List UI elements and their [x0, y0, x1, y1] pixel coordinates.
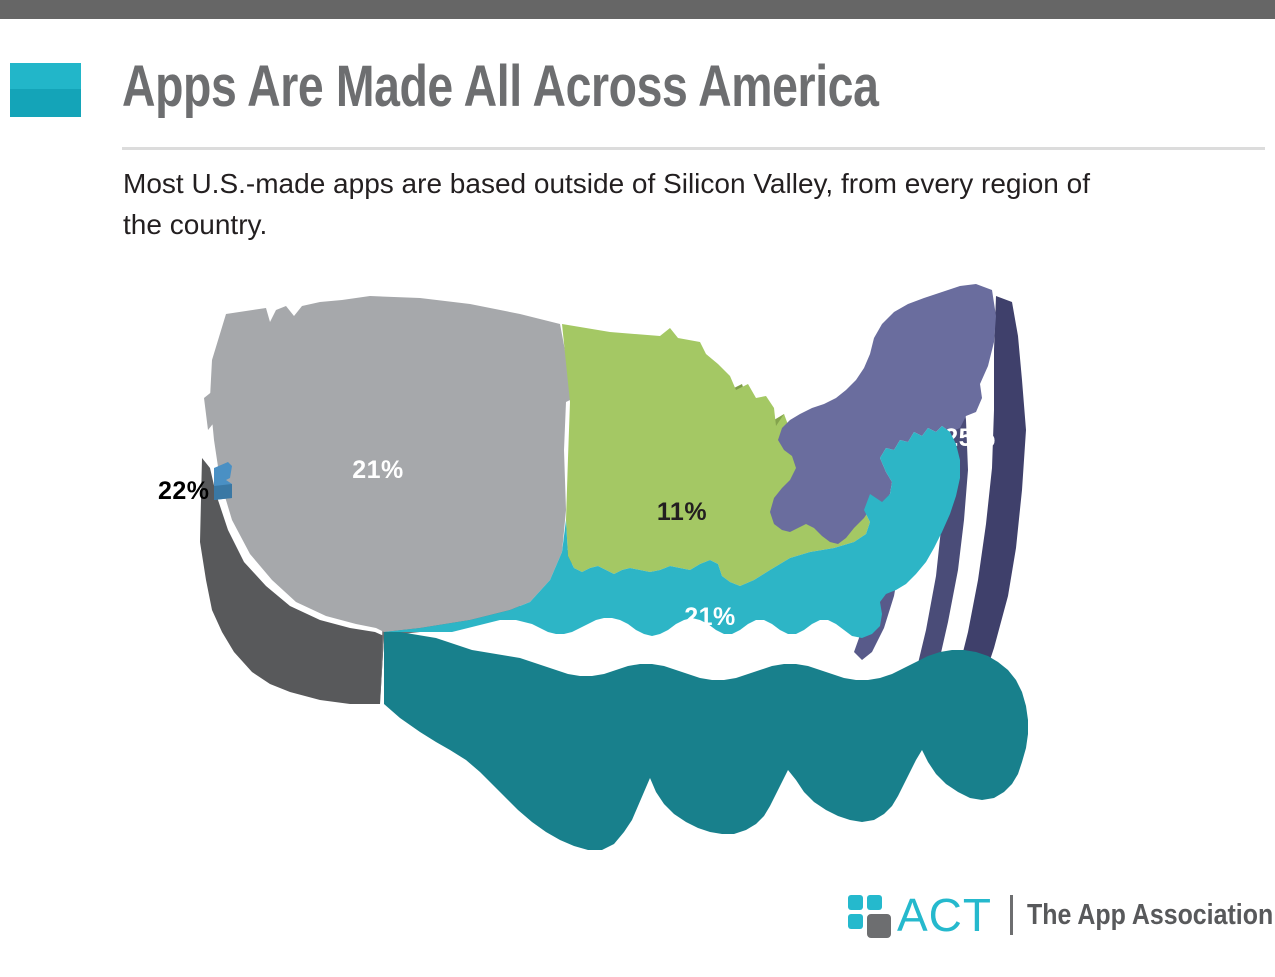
- logo-square-top-left: [848, 895, 863, 910]
- silicon-valley-callout-label: 22%: [158, 477, 210, 506]
- midwest-label: 11%: [657, 498, 707, 526]
- us-regions-map: 21% 11% 25%: [170, 280, 1110, 850]
- top-accent-bar: [0, 0, 1275, 19]
- page-title: Apps Are Made All Across America: [122, 51, 879, 123]
- logo-square-bottom-left: [848, 914, 863, 929]
- act-logo-mark-icon: [846, 892, 899, 938]
- logo-square-bottom-right: [867, 914, 891, 938]
- south-extrude-side: [384, 632, 1028, 850]
- logo-square-top-right: [867, 895, 882, 910]
- act-logo: ACT The App Association: [846, 886, 1275, 944]
- act-wordmark: ACT: [897, 892, 992, 938]
- south-label: 21%: [684, 603, 736, 631]
- page-subtitle: Most U.S.-made apps are based outside of…: [123, 163, 1123, 245]
- accent-square-bottom: [10, 89, 81, 117]
- logo-divider: [1010, 895, 1013, 935]
- west-label: 21%: [352, 456, 404, 484]
- title-accent-square: [10, 63, 81, 117]
- silicon-valley-shadow: [214, 484, 232, 500]
- act-tagline: The App Association: [1027, 898, 1273, 932]
- accent-square-top: [10, 63, 81, 89]
- title-divider: [122, 147, 1265, 150]
